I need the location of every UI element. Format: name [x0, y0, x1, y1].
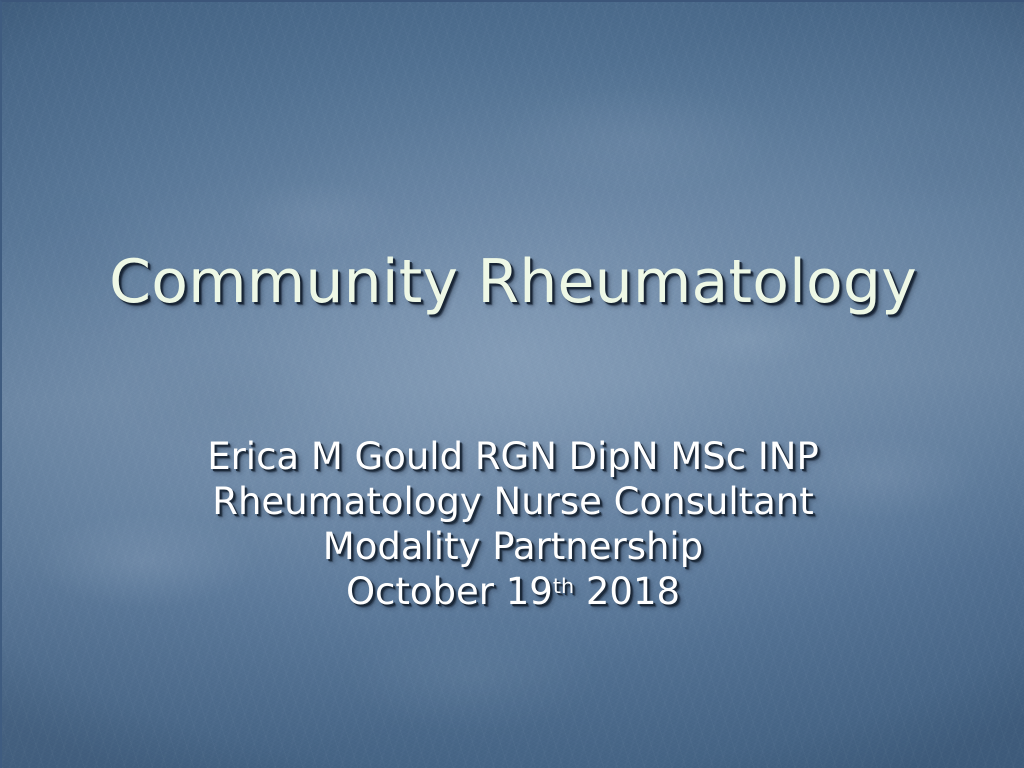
subtitle-line-role: Rheumatology Nurse Consultant [2, 479, 1024, 524]
slide-subtitle-block: Erica M Gould RGN DipN MSc INP Rheumatol… [2, 434, 1024, 614]
date-year: 2018 [574, 570, 680, 613]
presentation-slide: Community Rheumatology Erica M Gould RGN… [0, 0, 1024, 768]
date-ordinal-suffix: th [553, 574, 574, 598]
slide-content: Community Rheumatology Erica M Gould RGN… [2, 2, 1024, 768]
date-prefix: October 19 [346, 570, 553, 613]
subtitle-line-date: October 19th 2018 [2, 569, 1024, 614]
subtitle-line-presenter: Erica M Gould RGN DipN MSc INP [2, 434, 1024, 479]
slide-title: Community Rheumatology [2, 250, 1024, 315]
subtitle-line-organisation: Modality Partnership [2, 524, 1024, 569]
